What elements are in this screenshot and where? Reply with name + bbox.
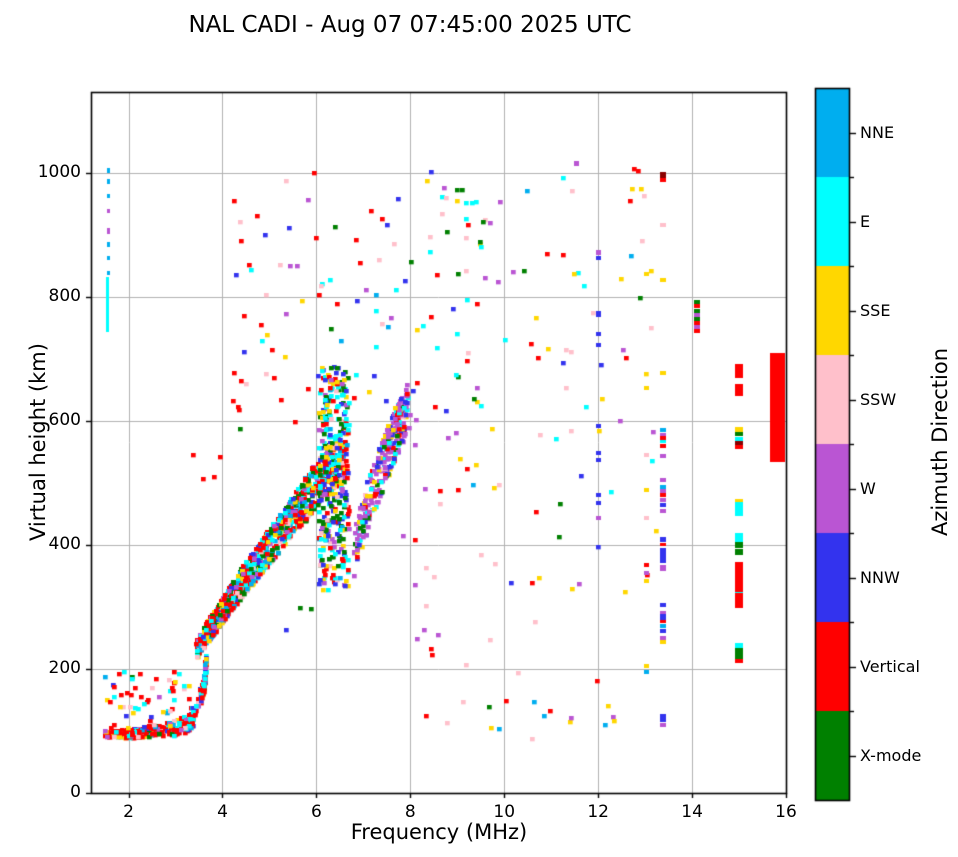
colorbar-tick-label-sse[interactable]: SSE [860, 301, 958, 320]
y-axis-tick-label: 1000 [0, 162, 81, 182]
x-axis-tick-label: 2 [89, 802, 169, 822]
y-axis-tick-label: 600 [0, 410, 81, 430]
y-axis-tick-label: 400 [0, 534, 81, 554]
x-axis-tick-label: 16 [746, 802, 826, 822]
colorbar-tick-label-x-mode[interactable]: X-mode [860, 746, 958, 765]
colorbar-tick-label-w[interactable]: W [860, 479, 958, 498]
colorbar-tick-label-ssw[interactable]: SSW [860, 390, 958, 409]
ionogram-figure: NAL CADI - Aug 07 07:45:00 2025 UTC Virt… [0, 0, 958, 857]
ionogram-plot-canvas[interactable] [0, 0, 958, 857]
x-axis-tick-label: 6 [276, 802, 356, 822]
colorbar-label: Azimuth Direction [928, 292, 952, 592]
y-axis-tick-label: 800 [0, 286, 81, 306]
x-axis-label: Frequency (MHz) [91, 820, 787, 844]
x-axis-tick-label: 14 [652, 802, 732, 822]
colorbar-tick-label-e[interactable]: E [860, 212, 958, 231]
x-axis-tick-label: 8 [370, 802, 450, 822]
x-axis-tick-label: 10 [464, 802, 544, 822]
colorbar-tick-label-nnw[interactable]: NNW [860, 568, 958, 587]
colorbar-tick-label-vertical[interactable]: Vertical [860, 657, 958, 676]
y-axis-tick-label: 200 [0, 658, 81, 678]
x-axis-tick-label: 4 [182, 802, 262, 822]
colorbar-tick-label-nne[interactable]: NNE [860, 123, 958, 142]
x-axis-tick-label: 12 [558, 802, 638, 822]
y-axis-tick-label: 0 [0, 782, 81, 802]
